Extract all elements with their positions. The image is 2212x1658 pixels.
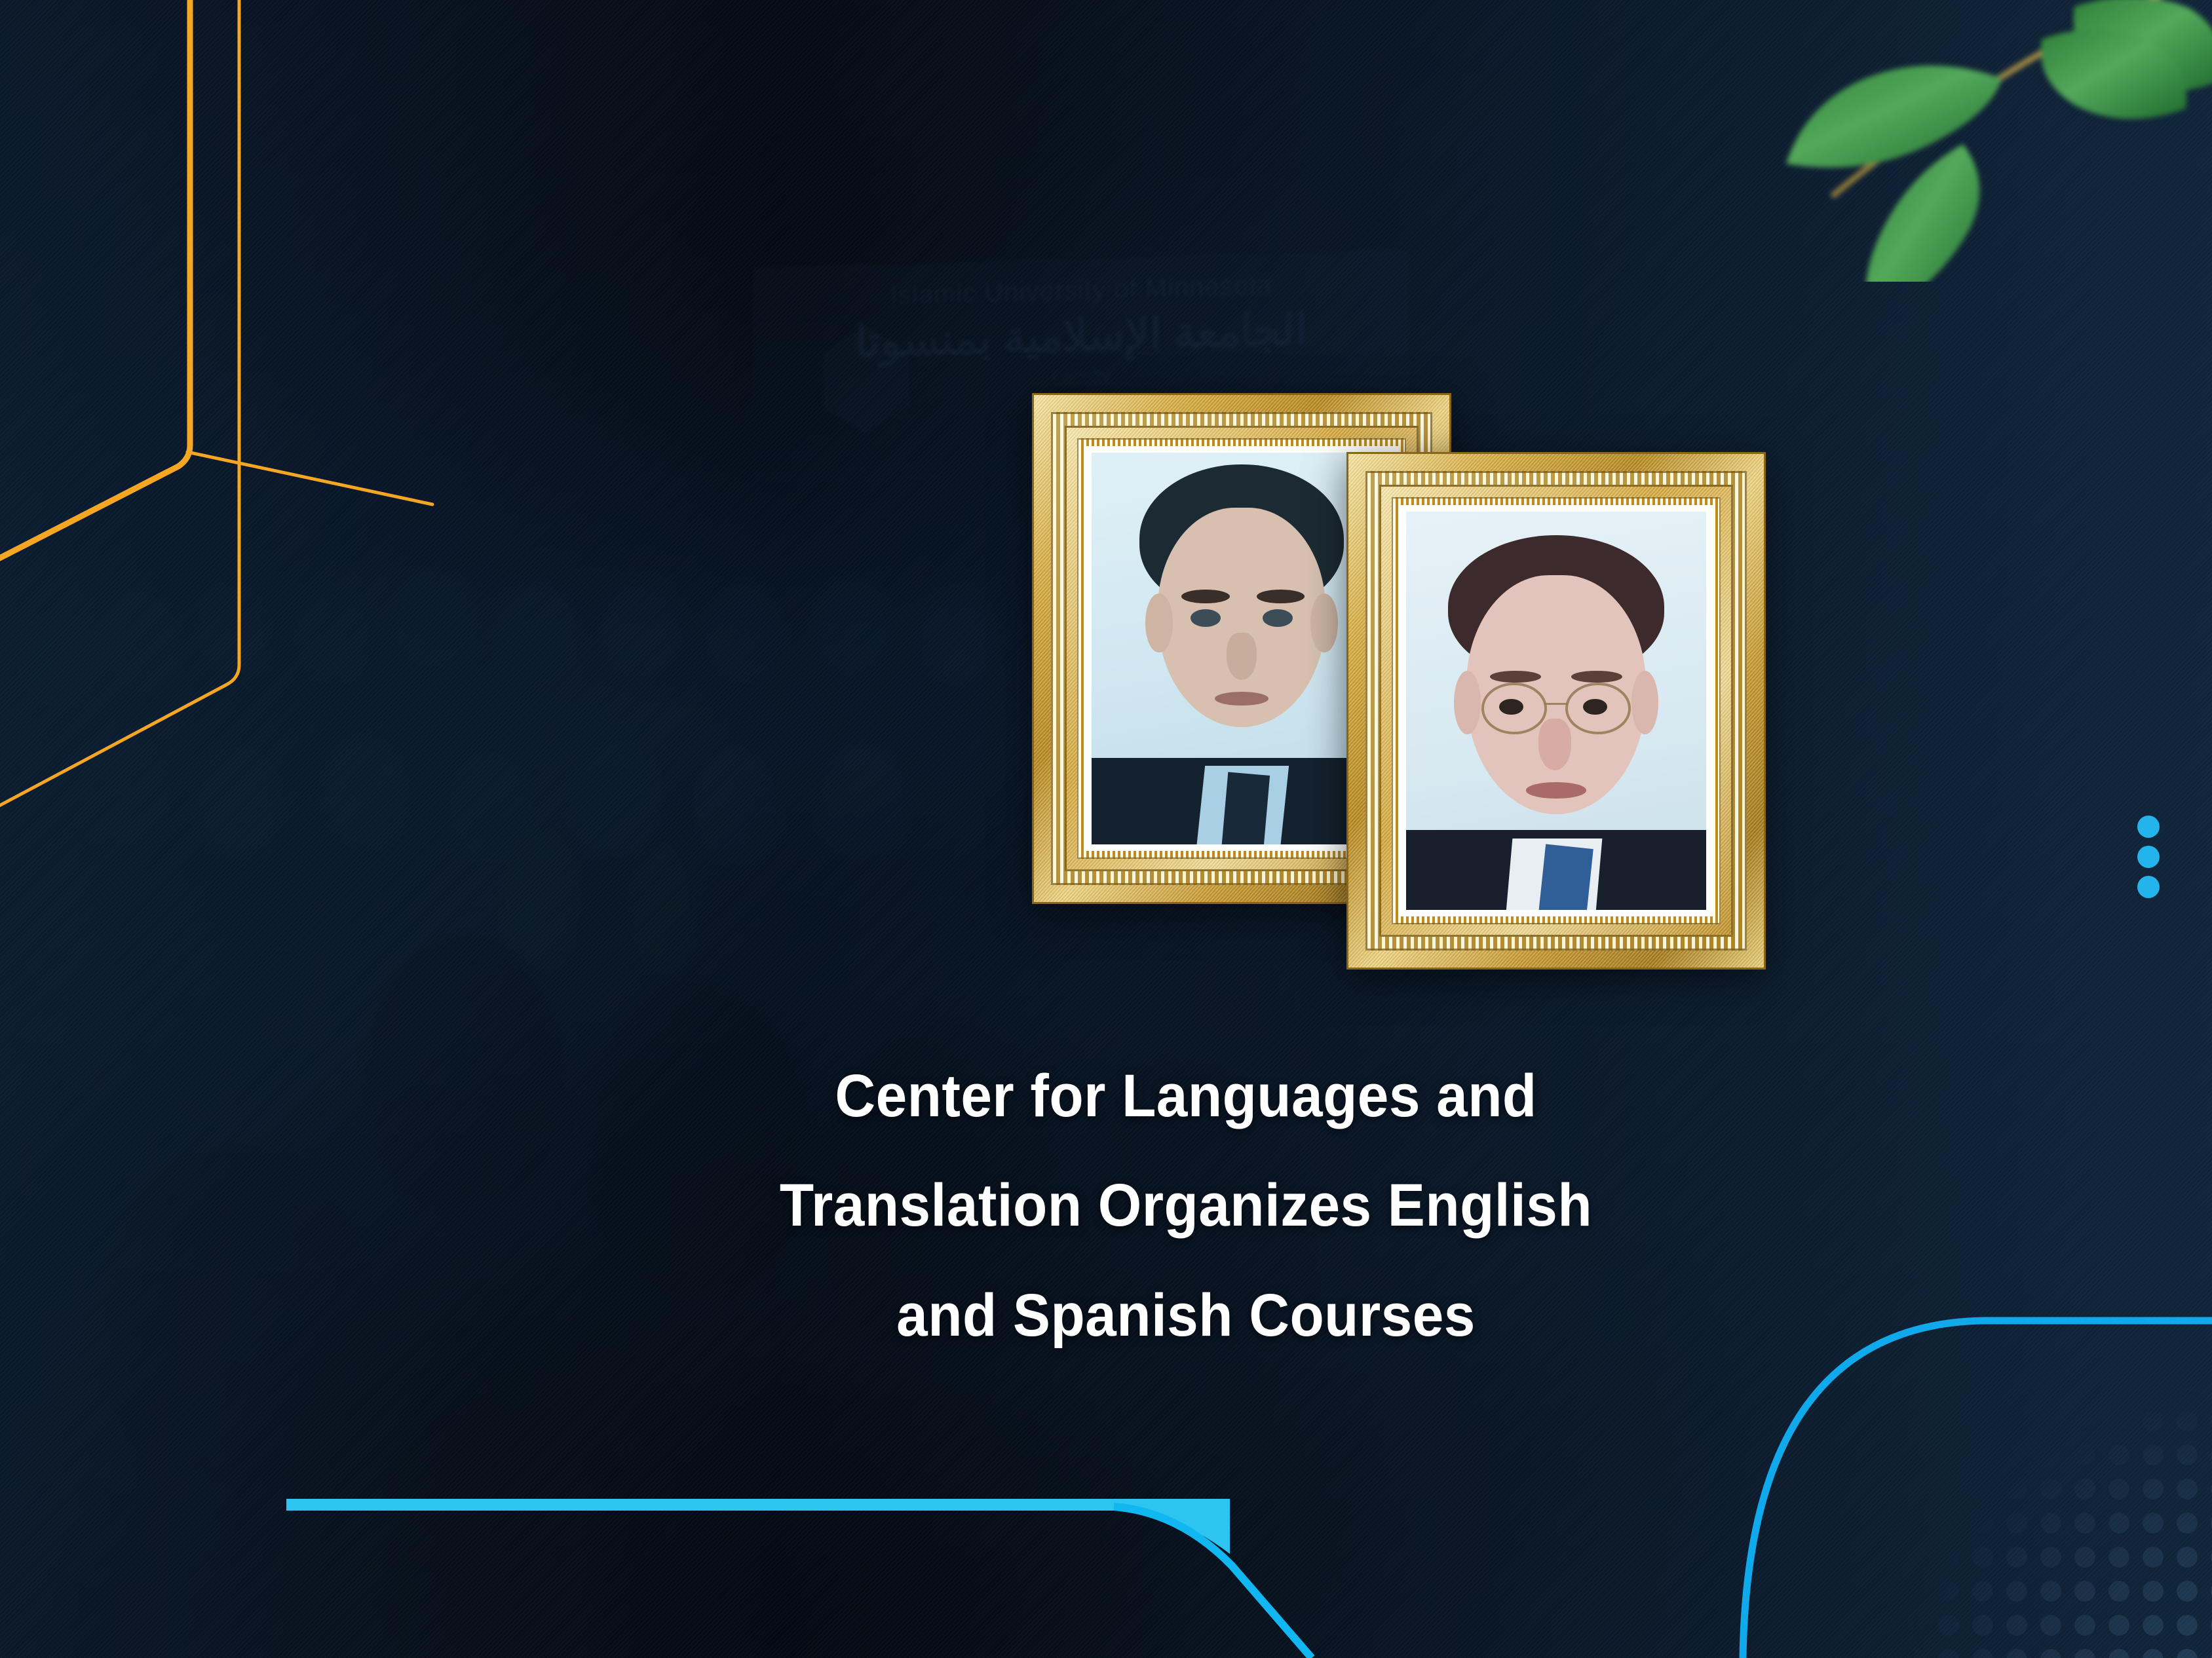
portrait-photo-right (1406, 512, 1706, 910)
title-line-2: Translation Organizes English (717, 1151, 1655, 1260)
cyan-dot-3 (2137, 876, 2160, 898)
title-line-3: and Spanish Courses (717, 1261, 1655, 1370)
cyan-dots-group (2137, 816, 2160, 898)
cyan-dot-2 (2137, 846, 2160, 868)
title-line-1: Center for Languages and (717, 1042, 1655, 1151)
leaf-sprig-icon (1766, 0, 2212, 282)
portrait-frame-right[interactable] (1346, 452, 1766, 970)
cyan-dot-1 (2137, 816, 2160, 838)
slide-canvas: Islamic University of Minnesota الجامعة … (0, 0, 2212, 1658)
page-title: Center for Languages and Translation Org… (717, 1042, 1655, 1370)
cyan-underline-arrow (286, 1499, 1312, 1658)
